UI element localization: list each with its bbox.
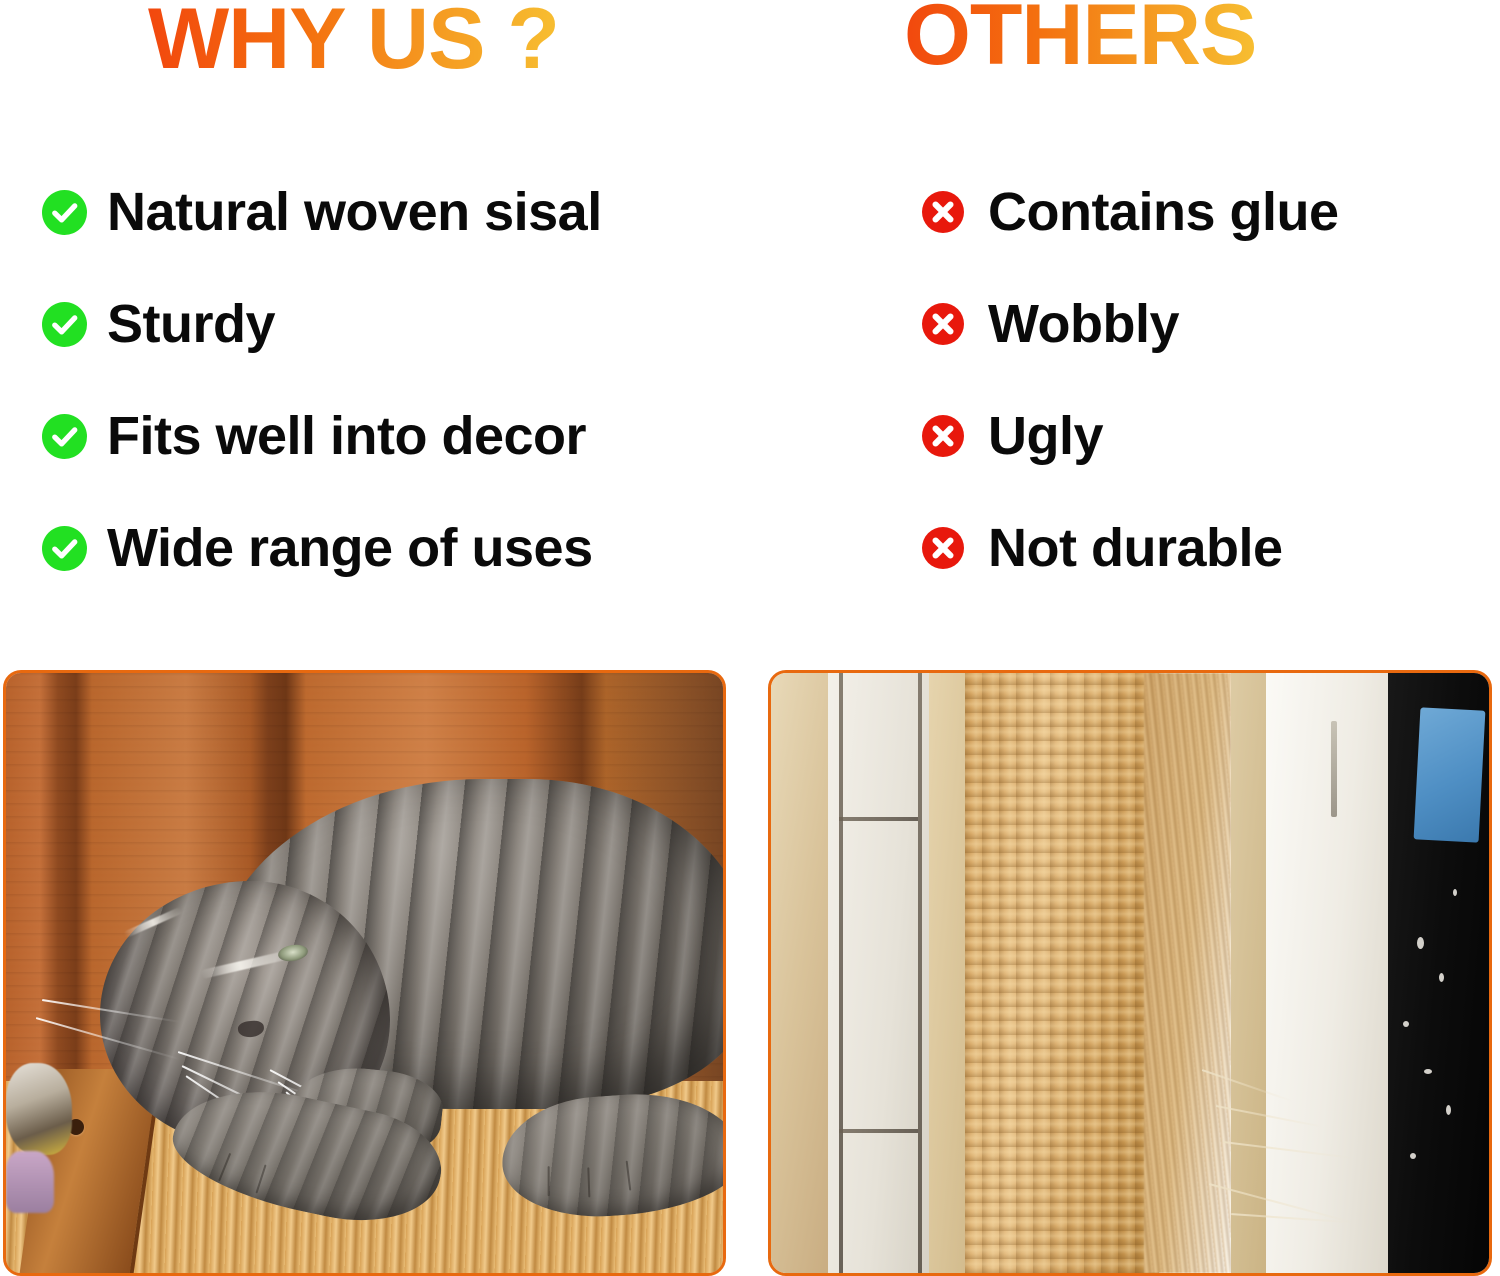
list-item-label: Fits well into decor — [107, 409, 586, 463]
list-item: Wobbly — [922, 298, 1339, 350]
cat-on-sisal-mat-photo — [3, 670, 726, 1276]
blue-tape — [1414, 707, 1485, 842]
cat-toy — [6, 1063, 72, 1155]
list-item: Sturdy — [42, 298, 602, 350]
others-title: OTHERS — [904, 0, 1256, 78]
list-item: Wide range of uses — [42, 522, 602, 574]
pros-list: Natural woven sisal Sturdy Fits well int… — [42, 186, 602, 574]
purple-fabric — [6, 1151, 54, 1213]
check-circle-icon — [42, 302, 87, 347]
list-item: Not durable — [922, 522, 1339, 574]
list-item-label: Contains glue — [988, 185, 1339, 239]
list-item-label: Ugly — [988, 409, 1103, 463]
door-hinge — [1331, 721, 1337, 817]
door-frame-right — [1231, 673, 1267, 1273]
cross-circle-icon — [922, 303, 964, 345]
door-frame-left — [929, 673, 965, 1273]
cross-circle-icon — [922, 415, 964, 457]
list-item-label: Natural woven sisal — [107, 185, 602, 239]
check-circle-icon — [42, 526, 87, 571]
cross-circle-icon — [922, 527, 964, 569]
comparison-infographic: WHY US ? Natural woven sisal Sturdy Fits… — [0, 0, 1500, 1274]
frayed-sisal-door-photo — [768, 670, 1492, 1276]
list-item-label: Wide range of uses — [107, 521, 593, 575]
list-item: Fits well into decor — [42, 410, 602, 462]
cross-circle-icon — [922, 191, 964, 233]
list-item: Natural woven sisal — [42, 186, 602, 238]
light-wood-trim — [771, 673, 828, 1273]
frayed-sisal-edge — [1144, 673, 1230, 1273]
list-item: Contains glue — [922, 186, 1339, 238]
check-circle-icon — [42, 414, 87, 459]
gray-cat — [82, 769, 723, 1239]
list-item-label: Sturdy — [107, 297, 275, 351]
white-door-panel-right — [1266, 673, 1388, 1273]
list-item-label: Wobbly — [988, 297, 1179, 351]
why-us-title: WHY US ? — [148, 0, 559, 82]
cons-list: Contains glue Wobbly Ugly — [922, 186, 1339, 574]
list-item-label: Not durable — [988, 521, 1283, 575]
list-item: Ugly — [922, 410, 1339, 462]
white-door-panel — [828, 673, 929, 1273]
sisal-mat-strip — [965, 673, 1159, 1273]
check-circle-icon — [42, 190, 87, 235]
